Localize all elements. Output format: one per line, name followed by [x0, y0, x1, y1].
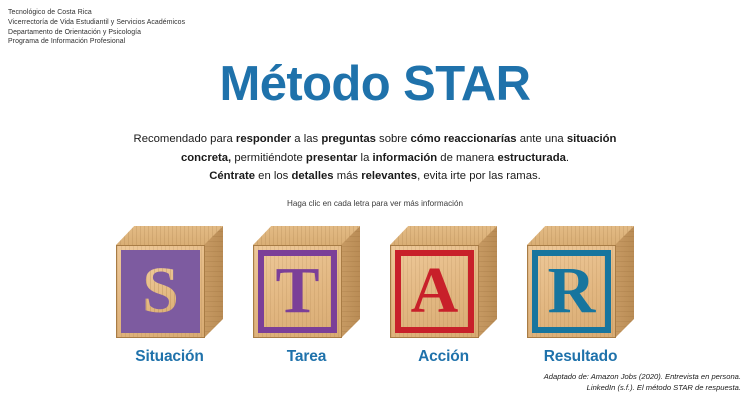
description-text: Recomendado para [134, 133, 236, 145]
cube-side-face [204, 226, 223, 338]
description-text: . [566, 152, 569, 164]
click-instruction: Haga clic en cada letra para ver más inf… [0, 199, 750, 208]
cube-letter-panel: T [258, 250, 337, 333]
star-block-label[interactable]: Situación [135, 348, 203, 366]
institution-line: Vicerrectoría de Vida Estudiantil y Serv… [8, 18, 185, 28]
description-emphasis: detalles [291, 170, 333, 182]
cube-letter-t: T [275, 258, 319, 324]
description-paragraph: Recomendado para responder a las pregunt… [0, 130, 750, 186]
star-blocks-row: SSituaciónTTareaAAcciónRResultado [0, 226, 750, 371]
source-citation: Adaptado de: Amazon Jobs (2020). Entrevi… [544, 371, 741, 393]
cube-letter-a: A [411, 258, 459, 324]
description-emphasis: preguntas [321, 133, 376, 145]
wooden-block-cube[interactable]: S [116, 226, 223, 338]
wooden-block-cube[interactable]: A [390, 226, 497, 338]
description-emphasis: relevantes [361, 170, 417, 182]
description-text: ante una [517, 133, 567, 145]
star-block-label[interactable]: Resultado [544, 348, 618, 366]
description-text: en los [255, 170, 291, 182]
cube-side-face [615, 226, 634, 338]
description-line-2: Céntrate en los detalles más relevantes,… [209, 170, 541, 182]
description-line-1: Recomendado para responder a las pregunt… [134, 133, 617, 164]
cube-letter-r: R [548, 258, 596, 324]
institution-line: Tecnológico de Costa Rica [8, 8, 185, 18]
star-block-r[interactable]: RResultado [522, 226, 640, 366]
page-title: Método STAR [0, 60, 750, 109]
cube-front-face: A [390, 245, 479, 338]
description-text: , evita irte por las ramas. [417, 170, 541, 182]
cube-side-face [478, 226, 497, 338]
institution-header: Tecnológico de Costa Rica Vicerrectoría … [8, 8, 185, 47]
description-text: a las [291, 133, 321, 145]
institution-line: Programa de Información Profesional [8, 37, 185, 47]
cube-letter-panel: R [532, 250, 611, 333]
description-text: más [334, 170, 362, 182]
star-block-t[interactable]: TTarea [248, 226, 366, 366]
description-text: la [357, 152, 372, 164]
description-text: de manera [437, 152, 497, 164]
star-block-label[interactable]: Tarea [287, 348, 326, 366]
description-emphasis: información [373, 152, 438, 164]
institution-line: Departamento de Orientación y Psicología [8, 28, 185, 38]
cube-side-face [341, 226, 360, 338]
description-text: permitiéndote [231, 152, 306, 164]
cube-front-face: R [527, 245, 616, 338]
cube-front-face: T [253, 245, 342, 338]
description-text: sobre [376, 133, 411, 145]
cube-front-face: S [116, 245, 205, 338]
description-emphasis: Céntrate [209, 170, 255, 182]
cube-letter-panel: A [395, 250, 474, 333]
cube-letter-s: S [142, 258, 179, 324]
cube-letter-panel: S [121, 250, 200, 333]
star-block-a[interactable]: AAcción [385, 226, 503, 366]
description-emphasis: responder [236, 133, 291, 145]
wooden-block-cube[interactable]: R [527, 226, 634, 338]
description-emphasis: presentar [306, 152, 358, 164]
citation-line: LinkedIn (s.f.). El método STAR de respu… [544, 382, 741, 393]
star-block-s[interactable]: SSituación [111, 226, 229, 366]
citation-line: Adaptado de: Amazon Jobs (2020). Entrevi… [544, 371, 741, 382]
description-emphasis: cómo reaccionarías [410, 133, 516, 145]
description-emphasis: estructurada [497, 152, 565, 164]
wooden-block-cube[interactable]: T [253, 226, 360, 338]
star-block-label[interactable]: Acción [418, 348, 469, 366]
